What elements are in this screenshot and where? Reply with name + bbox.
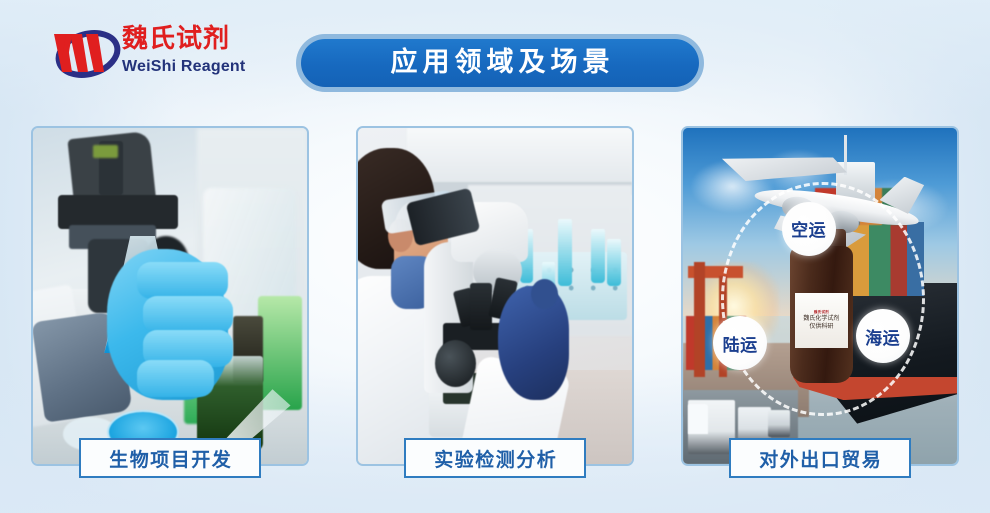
brand-name-en: WeiShi Reagent xyxy=(122,56,278,78)
badge-land-freight: 陆运 xyxy=(713,316,767,370)
bottle-label-line2: 仅供科研 xyxy=(809,323,833,331)
card-photo-frame xyxy=(356,126,634,466)
card-label-text: 生物项目开发 xyxy=(108,445,233,472)
card-label-text: 对外出口贸易 xyxy=(758,445,883,472)
title-pill: 应用领域及场景 xyxy=(301,39,699,87)
application-cards: 生物项目开发 xyxy=(0,126,990,476)
badge-land-freight-text: 陆运 xyxy=(723,331,758,356)
page-title-banner: 应用领域及场景 xyxy=(296,34,704,92)
photo-microscope-flask xyxy=(33,128,307,464)
badge-sea-freight-text: 海运 xyxy=(865,324,900,349)
bottle-brand-text: 魏氏试剂 xyxy=(814,309,829,314)
bottle-label-line1: 魏氏化学试剂 xyxy=(803,315,839,323)
card-label-text: 实验检测分析 xyxy=(433,445,558,472)
brand-name-cn: 魏氏试剂 xyxy=(122,22,278,56)
card-label-box: 生物项目开发 xyxy=(79,438,261,478)
badge-air-freight: 空运 xyxy=(782,202,836,256)
bottle-label: 魏氏试剂 魏氏化学试剂 仅供科研 xyxy=(795,293,848,348)
card-label-box: 对外出口贸易 xyxy=(729,438,911,478)
brand-logo[interactable]: 魏氏试剂 WeiShi Reagent xyxy=(48,22,278,90)
header: 魏氏试剂 WeiShi Reagent 应用领域及场景 xyxy=(0,0,990,118)
brand-wordmark: 魏氏试剂 WeiShi Reagent xyxy=(122,22,278,88)
card-label-box: 实验检测分析 xyxy=(404,438,586,478)
card-export-trade[interactable]: 魏氏试剂 魏氏化学试剂 仅供科研 空运 陆运 海运 xyxy=(681,126,959,466)
card-photo-frame xyxy=(31,126,309,466)
photo-researcher-microscope xyxy=(358,128,632,464)
card-bio-project-development[interactable]: 生物项目开发 xyxy=(31,126,309,466)
slide-root: 魏氏试剂 WeiShi Reagent 应用领域及场景 xyxy=(0,0,990,513)
badge-air-freight-text: 空运 xyxy=(791,216,826,241)
card-lab-testing-analysis[interactable]: 实验检测分析 xyxy=(356,126,634,466)
page-title: 应用领域及场景 xyxy=(386,39,615,87)
weishi-w-logo-icon xyxy=(48,24,122,86)
card-photo-frame: 魏氏试剂 魏氏化学试剂 仅供科研 空运 陆运 海运 xyxy=(681,126,959,466)
photo-export-logistics: 魏氏试剂 魏氏化学试剂 仅供科研 空运 陆运 海运 xyxy=(683,128,957,464)
badge-sea-freight: 海运 xyxy=(856,309,910,363)
